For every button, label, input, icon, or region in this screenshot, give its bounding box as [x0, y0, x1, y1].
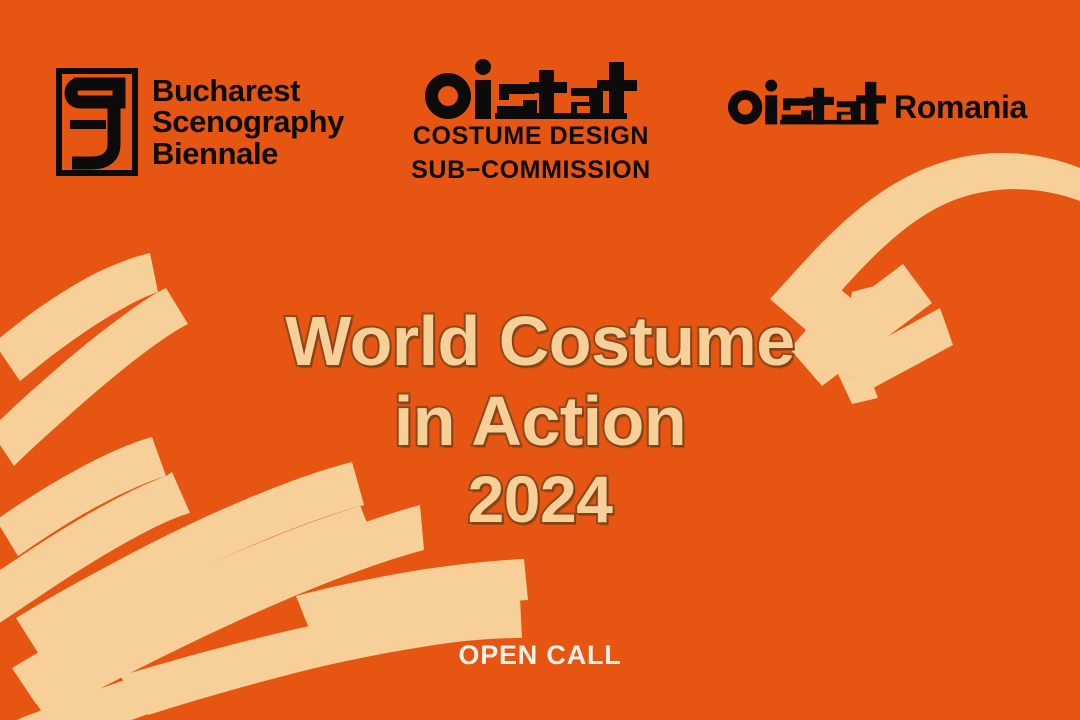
oistat-costume-design-logo: COSTUME DESIGN SUB−COMMISSION	[400, 58, 662, 187]
bucharest-scenography-biennale-logo: Bucharest Scenography Biennale	[56, 68, 344, 176]
bsb-line-1: Bucharest	[152, 75, 344, 107]
poster-headline: World Costume in Action 2024	[0, 306, 1080, 532]
poster-canvas: Bucharest Scenography Biennale	[0, 0, 1080, 720]
headline-line-1: World Costume	[0, 306, 1080, 376]
logo-row: Bucharest Scenography Biennale	[0, 0, 1080, 210]
oistat-cd-line-2: SUB−COMMISSION	[400, 154, 662, 188]
oistat-cd-line-1: COSTUME DESIGN	[400, 120, 662, 154]
headline-line-2: in Action	[0, 386, 1080, 456]
oistat-wordmark-icon	[722, 78, 892, 126]
bsb-line-2: Scenography	[152, 106, 344, 138]
bsb-s-monogram-icon	[56, 68, 138, 176]
open-call-label: OPEN CALL	[0, 640, 1080, 671]
bsb-line-3: Biennale	[152, 138, 344, 170]
oistat-wordmark-icon	[417, 58, 645, 120]
headline-line-3: 2024	[0, 466, 1080, 532]
oistat-romania-logo: Romania	[722, 78, 1027, 126]
oistat-romania-country-label: Romania	[894, 91, 1027, 123]
bsb-wordmark: Bucharest Scenography Biennale	[152, 75, 344, 170]
